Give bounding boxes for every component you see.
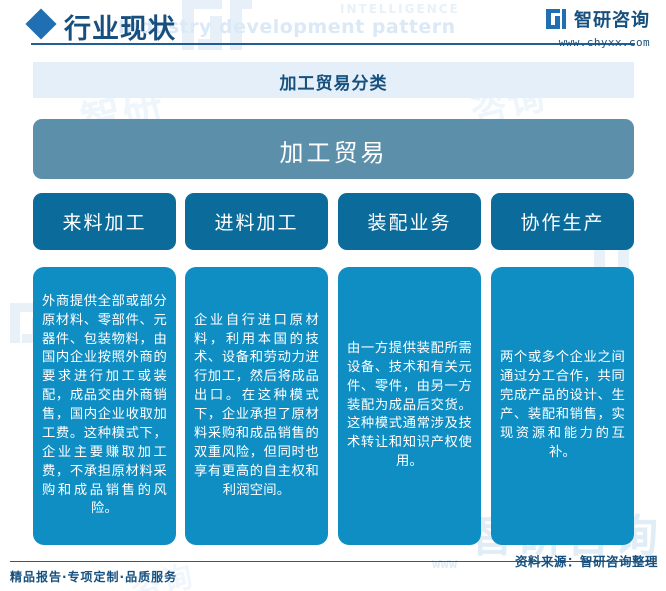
category-body-2: 企业自行进口原材料，利用本国的技术、设备和劳动力进行加工，然后将成品出口。在这种… [185, 267, 328, 545]
footer-source: 资料来源：智研咨询整理 [515, 551, 658, 570]
root-node-label: 加工贸易 [33, 133, 634, 168]
category-header-1[interactable]: 来料加工 [33, 193, 176, 250]
category-description: 两个或多个企业之间通过分工合作，共同完成产品的设计、生产、装配和销售，实现资源和… [500, 349, 625, 462]
slide-canvas: INTELLIGENCE 智研 咨询 智研咨询 www [0, 0, 666, 591]
brand-name: 智研咨询 [574, 6, 650, 32]
root-node: 加工贸易 [33, 119, 634, 179]
page-title: 行业现状 [64, 7, 176, 46]
category-header-4[interactable]: 协作生产 [491, 193, 634, 250]
chart-title: 加工贸易分类 [33, 69, 634, 94]
watermark-url-text: www [432, 556, 457, 572]
category-columns: 来料加工 外商提供全部或部分原材料、零部件、元器件、包装物料，由国内企业按照外商… [33, 193, 634, 553]
category-column-1: 来料加工 外商提供全部或部分原材料、零部件、元器件、包装物料，由国内企业按照外商… [33, 193, 176, 545]
category-column-3: 装配业务 由一方提供装配所需设备、技术和有关元件、零件，由另一方装配为成品后交货… [338, 193, 481, 545]
category-header-label: 进料加工 [214, 208, 298, 235]
footer-tagline: 精品报告·专项定制·品质服务 [10, 568, 177, 585]
category-description: 由一方提供装配所需设备、技术和有关元件、零件，由另一方装配为成品后交货。这种模式… [347, 340, 472, 472]
chart-title-band: 加工贸易分类 [33, 62, 634, 98]
category-column-2: 进料加工 企业自行进口原材料，利用本国的技术、设备和劳动力进行加工，然后将成品出… [185, 193, 328, 545]
category-column-4: 协作生产 两个或多个企业之间通过分工合作，共同完成产品的设计、生产、装配和销售，… [491, 193, 634, 545]
zhiyan-logo-icon [545, 8, 567, 30]
page-header: Industry development pattern 行业现状 [0, 0, 666, 52]
category-header-3[interactable]: 装配业务 [338, 193, 481, 250]
category-description: 企业自行进口原材料，利用本国的技术、设备和劳动力进行加工，然后将成品出口。在这种… [194, 312, 319, 501]
category-body-4: 两个或多个企业之间通过分工合作，共同完成产品的设计、生产、装配和销售，实现资源和… [491, 267, 634, 545]
brand-block: 智研咨询 www.chyxx.com [545, 6, 650, 49]
brand-url: www.chyxx.com [545, 36, 650, 49]
category-description: 外商提供全部或部分原材料、零部件、元器件、包装物料，由国内企业按照外商的要求进行… [42, 293, 167, 520]
category-body-3: 由一方提供装配所需设备、技术和有关元件、零件，由另一方装配为成品后交货。这种模式… [338, 267, 481, 545]
category-header-label: 协作生产 [520, 208, 604, 235]
category-header-2[interactable]: 进料加工 [185, 193, 328, 250]
category-body-1: 外商提供全部或部分原材料、零部件、元器件、包装物料，由国内企业按照外商的要求进行… [33, 267, 176, 545]
category-header-label: 装配业务 [367, 208, 451, 235]
category-header-label: 来料加工 [62, 208, 146, 235]
diamond-icon [25, 8, 56, 39]
